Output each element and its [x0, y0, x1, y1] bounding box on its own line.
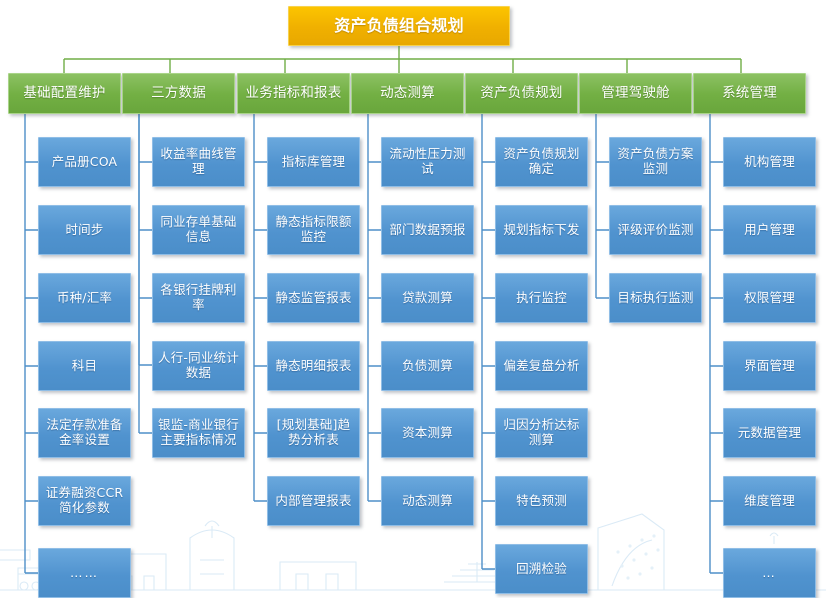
- diagram-canvas: 资产负债组合规划 基础配置维护 三方数据 业务指标和报表 动态测算 资产负债规划…: [0, 0, 826, 598]
- leaf-node-c6-1[interactable]: 资产负债方案监测: [609, 137, 702, 187]
- leaf-node-c4-5[interactable]: 资本测算: [381, 408, 474, 458]
- leaf-node-c5-3[interactable]: 执行监控: [495, 273, 588, 323]
- leaf-node-c3-2[interactable]: 静态指标限额监控: [267, 205, 360, 255]
- leaf-node-c1-4[interactable]: 科目: [38, 341, 131, 391]
- leaf-node-c1-5[interactable]: 法定存款准备金率设置: [38, 408, 131, 458]
- leaf-node-c7-1[interactable]: 机构管理: [723, 137, 816, 187]
- category-node-col-6[interactable]: 管理驾驶舱: [579, 73, 692, 114]
- leaf-node-c4-6[interactable]: 动态测算: [381, 476, 474, 526]
- leaf-node-c6-3[interactable]: 目标执行监测: [609, 273, 702, 323]
- leaf-node-c7-7[interactable]: …: [723, 548, 816, 598]
- leaf-node-c3-6[interactable]: 内部管理报表: [267, 476, 360, 526]
- leaf-node-c4-1[interactable]: 流动性压力测试: [381, 137, 474, 187]
- root-node[interactable]: 资产负债组合规划: [288, 6, 510, 46]
- leaf-node-c5-4[interactable]: 偏差复盘分析: [495, 341, 588, 391]
- leaf-node-c5-7[interactable]: 回溯检验: [495, 544, 588, 594]
- leaf-node-c3-1[interactable]: 指标库管理: [267, 137, 360, 187]
- leaf-node-c1-3[interactable]: 币种/汇率: [38, 273, 131, 323]
- leaf-node-c4-4[interactable]: 负债测算: [381, 341, 474, 391]
- root-connectors: [64, 46, 741, 73]
- leaf-node-c5-1[interactable]: 资产负债规划确定: [495, 137, 588, 187]
- category-node-col-5[interactable]: 资产负债规划: [465, 73, 578, 114]
- category-node-col-1[interactable]: 基础配置维护: [8, 73, 121, 114]
- category-node-col-2[interactable]: 三方数据: [122, 73, 235, 114]
- leaf-node-c3-5[interactable]: [规划基础]趋势分析表: [267, 408, 360, 458]
- leaf-node-c2-3[interactable]: 各银行挂牌利率: [152, 273, 245, 323]
- leaf-node-c3-4[interactable]: 静态明细报表: [267, 341, 360, 391]
- leaf-node-c6-2[interactable]: 评级评价监测: [609, 205, 702, 255]
- leaf-node-c1-2[interactable]: 时间步: [38, 205, 131, 255]
- leaf-node-c4-3[interactable]: 贷款测算: [381, 273, 474, 323]
- category-node-col-3[interactable]: 业务指标和报表: [237, 73, 350, 114]
- category-node-col-7[interactable]: 系统管理: [693, 73, 806, 114]
- leaf-node-c2-2[interactable]: 同业存单基础信息: [152, 205, 245, 255]
- leaf-node-c4-2[interactable]: 部门数据预报: [381, 205, 474, 255]
- leaf-node-c5-6[interactable]: 特色预测: [495, 476, 588, 526]
- leaf-node-c7-5[interactable]: 元数据管理: [723, 408, 816, 458]
- leaf-node-c7-4[interactable]: 界面管理: [723, 341, 816, 391]
- category-node-col-4[interactable]: 动态测算: [351, 73, 464, 114]
- leaf-node-c1-1[interactable]: 产品册COA: [38, 137, 131, 187]
- leaf-node-c2-4[interactable]: 人行-同业统计数据: [152, 341, 245, 391]
- leaf-node-c7-3[interactable]: 权限管理: [723, 273, 816, 323]
- leaf-node-c3-3[interactable]: 静态监管报表: [267, 273, 360, 323]
- leaf-node-c5-5[interactable]: 归因分析达标测算: [495, 408, 588, 458]
- leaf-node-c1-7[interactable]: ……: [38, 548, 131, 598]
- leaf-node-c2-5[interactable]: 银监-商业银行主要指标情况: [152, 408, 245, 458]
- leaf-node-c5-2[interactable]: 规划指标下发: [495, 205, 588, 255]
- leaf-node-c1-6[interactable]: 证券融资CCR简化参数: [38, 476, 131, 526]
- leaf-node-c7-6[interactable]: 维度管理: [723, 476, 816, 526]
- leaf-node-c7-2[interactable]: 用户管理: [723, 205, 816, 255]
- leaf-node-c2-1[interactable]: 收益率曲线管理: [152, 137, 245, 187]
